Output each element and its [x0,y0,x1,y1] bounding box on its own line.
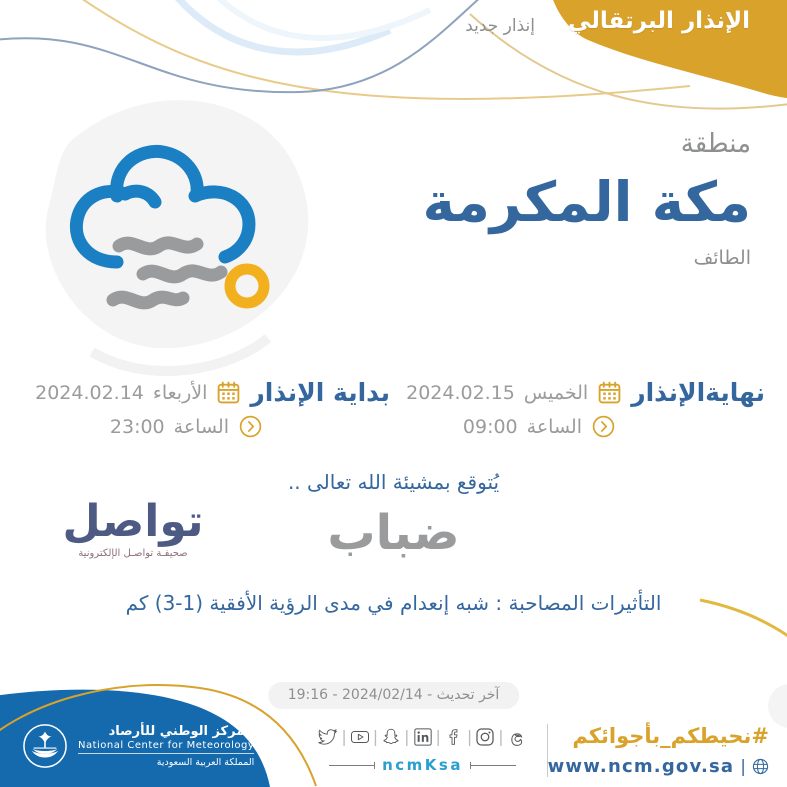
alert-end-time-line: الساعة 09:00 [397,414,765,439]
last-update-badge: آخر تحديث - 2024/02/14 - 19:16 [268,682,520,709]
handle-rule-right [470,765,516,766]
social-separator: | [404,729,409,745]
alert-start-time-line: الساعة 23:00 [22,414,390,439]
social-icons-row: | | | | | [300,727,545,747]
new-alert-label: إنذار جديد [465,16,535,36]
alert-period-row: نهايةالإنذار الخميس 2024.02.15 [0,378,787,439]
social-separator: | [498,729,503,745]
website-row: www.ncm.gov.sa | [548,756,769,777]
alert-level-banner: الإنذار البرتقالي [545,8,773,34]
social-handle: ncmKsa [382,756,463,774]
handle-rule-left [329,765,375,766]
ncm-logo: المركز الوطني للأرصاد National Center fo… [22,723,254,769]
ncm-name-english: National Center for Meteorology [78,740,254,754]
alert-end-hour-label: الساعة [527,416,582,438]
social-separator: | [373,729,378,745]
tawasul-watermark: تواصل صحيفـة تواصـل الإلكترونية [38,500,228,559]
social-separator: | [341,729,346,745]
alert-end-block: نهايةالإنذار الخميس 2024.02.15 [397,378,765,439]
social-separator: | [436,729,441,745]
social-separator: | [467,729,472,745]
alert-start-day: الأربعاء [153,382,207,404]
website-separator: | [740,757,746,777]
tawasul-logo-text: تواصل [38,500,228,544]
alert-start-date: 2024.02.14 [35,382,144,404]
instagram-icon[interactable] [475,727,495,747]
alert-start-hour: 23:00 [110,416,165,438]
footer-right-block: #نحيطكم_بأجوائكم www.ncm.gov.sa | [547,724,769,777]
social-block: | | | | | [300,727,545,774]
alert-end-date-line: نهايةالإنذار الخميس 2024.02.15 [397,378,765,407]
alert-end-date: 2024.02.15 [406,382,515,404]
region-prefix-label: منطقة [331,128,751,161]
youtube-icon[interactable] [350,727,370,747]
region-name: مكة المكرمة [331,165,751,239]
alert-start-hour-label: الساعة [174,416,229,438]
ncm-name-arabic: المركز الوطني للأرصاد [78,724,254,739]
alert-end-day: الخميس [524,382,588,404]
website-url[interactable]: www.ncm.gov.sa [548,756,735,777]
accompanying-effects: التأثيرات المصاحبة : شبه إنعدام في مدى ا… [0,591,787,615]
alert-start-title: بداية الإنذار [250,378,390,407]
alert-start-date-line: بداية الإنذار الأربعاء 2024.02.14 [22,378,390,407]
calendar-icon [597,380,622,405]
fog-icon [55,140,295,330]
twitter-icon[interactable] [318,727,338,747]
clock-icon [238,414,263,439]
globe-icon [752,758,769,775]
linkedin-icon[interactable] [413,727,433,747]
alert-end-hour: 09:00 [463,416,518,438]
campaign-hashtag: #نحيطكم_بأجوائكم [548,724,769,748]
tawasul-logo-subtitle: صحيفـة تواصـل الإلكترونية [38,548,228,559]
saudi-emblem-icon [22,723,68,769]
ncm-kingdom-label: المملكة العربية السعودية [78,757,254,768]
threads-icon[interactable] [507,727,527,747]
weather-alert-card: إنذار جديد الإنذار البرتقالي منطقة مكة ا… [0,0,787,787]
alert-start-block: بداية الإنذار الأربعاء 2024.02.14 [22,378,390,439]
governorate-name: الطائف [331,247,751,269]
region-block: منطقة مكة المكرمة الطائف [331,128,751,269]
clock-icon [591,414,616,439]
calendar-icon [216,380,241,405]
social-handle-row: ncmKsa [300,756,545,774]
facebook-icon[interactable] [444,727,464,747]
alert-end-title: نهايةالإنذار [631,378,765,407]
ncm-logo-texts: المركز الوطني للأرصاد National Center fo… [78,724,254,768]
forecast-intro: يُتوقع بمشيئة الله تعالى .. [0,470,787,494]
snapchat-icon[interactable] [381,727,401,747]
